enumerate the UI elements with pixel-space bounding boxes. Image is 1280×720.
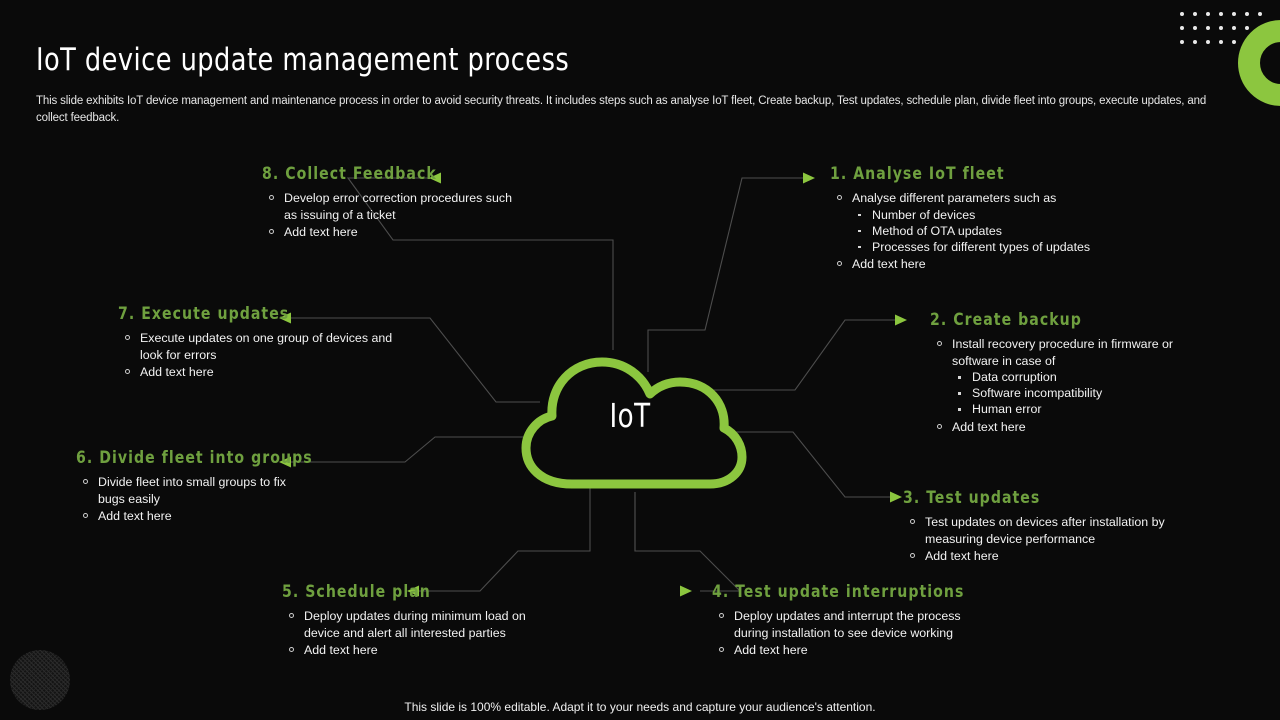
step-create-backup[interactable]: 2. Create backup Install recovery proced… xyxy=(930,310,1198,436)
list-item: Deploy updates and interrupt the process… xyxy=(712,608,982,641)
step-bullet-list: Deploy updates and interrupt the process… xyxy=(712,608,982,659)
step-heading: 5. Schedule plan xyxy=(282,582,529,601)
sub-list-item: Data corruption xyxy=(952,369,1198,385)
step-test-updates[interactable]: 3. Test updates Test updates on devices … xyxy=(903,488,1193,566)
step-collect-feedback[interactable]: 8. Collect Feedback Develop error correc… xyxy=(262,164,512,242)
list-item: Test updates on devices after installati… xyxy=(903,514,1193,547)
list-item-text: Analyse different parameters such as xyxy=(852,191,1056,205)
list-item: Execute updates on one group of devices … xyxy=(118,330,418,363)
step-bullet-list: Execute updates on one group of devices … xyxy=(118,330,418,381)
step-bullet-list: Develop error correction procedures such… xyxy=(262,190,512,241)
list-item: Install recovery procedure in firmware o… xyxy=(930,336,1198,418)
list-item: Add text here xyxy=(903,548,1193,565)
list-item: Develop error correction procedures such… xyxy=(262,190,512,223)
list-item-text: Install recovery procedure in firmware o… xyxy=(952,337,1173,368)
list-item: Add text here xyxy=(930,419,1198,436)
sub-bullet-list: Data corruption Software incompatibility… xyxy=(952,369,1198,418)
step-bullet-list: Install recovery procedure in firmware o… xyxy=(930,336,1198,435)
step-heading: 7. Execute updates xyxy=(118,304,403,323)
step-bullet-list: Test updates on devices after installati… xyxy=(903,514,1193,565)
list-item: Add text here xyxy=(76,508,316,525)
step-heading: 3. Test updates xyxy=(903,488,1179,507)
list-item: Deploy updates during minimum load on de… xyxy=(282,608,542,641)
list-item: Add text here xyxy=(712,642,982,659)
list-item: Divide fleet into small groups to fix bu… xyxy=(76,474,316,507)
step-heading: 2. Create backup xyxy=(930,310,1185,329)
list-item: Add text here xyxy=(118,364,418,381)
step-test-update-interruptions[interactable]: 4. Test update interruptions Deploy upda… xyxy=(712,582,982,660)
step-divide-fleet-into-groups[interactable]: 6. Divide fleet into groups Divide fleet… xyxy=(76,448,316,526)
list-item: Add text here xyxy=(282,642,542,659)
cloud-center-label: IoT xyxy=(526,396,734,435)
footer-note: This slide is 100% editable. Adapt it to… xyxy=(0,700,1280,714)
step-bullet-list: Deploy updates during minimum load on de… xyxy=(282,608,542,659)
step-schedule-plan[interactable]: 5. Schedule plan Deploy updates during m… xyxy=(282,582,542,660)
list-item: Analyse different parameters such as Num… xyxy=(830,190,1120,255)
list-item: Add text here xyxy=(262,224,512,241)
step-heading: 4. Test update interruptions xyxy=(712,582,969,601)
step-heading: 1. Analyse IoT fleet xyxy=(830,164,1106,183)
sub-list-item: Human error xyxy=(952,401,1198,417)
sub-list-item: Number of devices xyxy=(852,207,1120,223)
step-heading: 8. Collect Feedback xyxy=(262,164,500,183)
step-bullet-list: Divide fleet into small groups to fix bu… xyxy=(76,474,316,525)
sub-list-item: Processes for different types of updates xyxy=(852,239,1120,255)
list-item: Add text here xyxy=(830,256,1120,273)
step-heading: 6. Divide fleet into groups xyxy=(76,448,304,467)
step-execute-updates[interactable]: 7. Execute updates Execute updates on on… xyxy=(118,304,418,382)
sub-list-item: Method of OTA updates xyxy=(852,223,1120,239)
sub-bullet-list: Number of devices Method of OTA updates … xyxy=(852,207,1120,256)
sub-list-item: Software incompatibility xyxy=(952,385,1198,401)
step-bullet-list: Analyse different parameters such as Num… xyxy=(830,190,1120,273)
step-analyse-iot-fleet[interactable]: 1. Analyse IoT fleet Analyse different p… xyxy=(830,164,1120,274)
slide-canvas: IoT device update management process Thi… xyxy=(0,0,1280,720)
